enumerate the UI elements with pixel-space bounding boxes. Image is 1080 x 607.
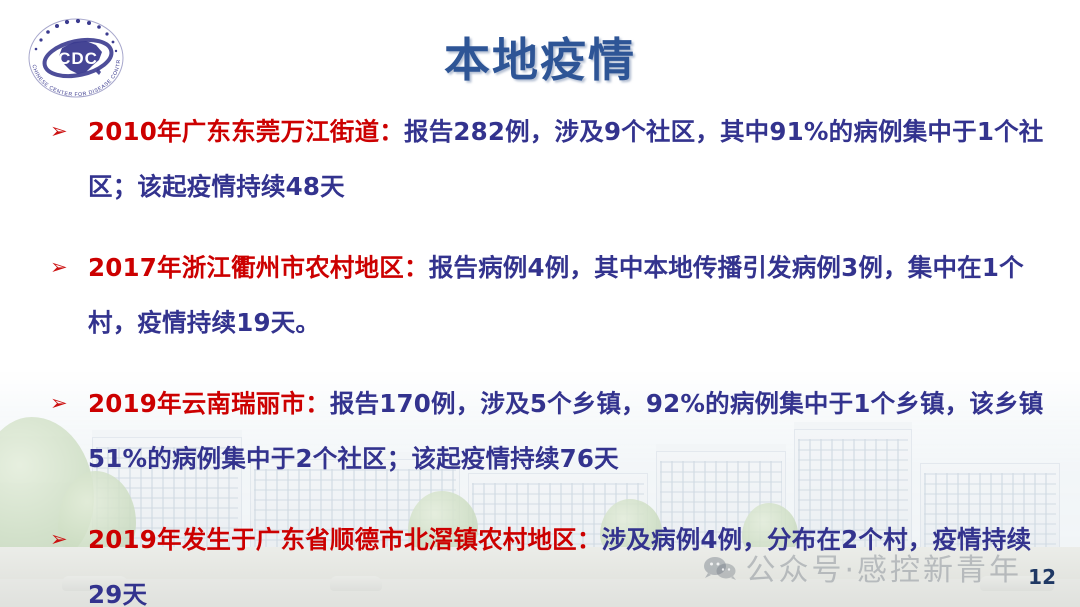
list-item-lead: 2017年浙江衢州市农村地区：: [88, 253, 429, 282]
bullet-list: ➢2010年广东东莞万江街道：报告282例，涉及9个社区，其中91%的病例集中于…: [46, 104, 1046, 607]
list-item: ➢2019年发生于广东省顺德市北滘镇农村地区：涉及病例4例，分布在2个村，疫情持…: [46, 512, 1046, 607]
slide: CDC CHINESE CENTER FOR DISEASE CONTROL A…: [0, 0, 1080, 607]
page-number: 12: [1028, 565, 1056, 589]
list-item: ➢2019年云南瑞丽市：报告170例，涉及5个乡镇，92%的病例集中于1个乡镇，…: [46, 376, 1046, 486]
list-item-lead: 2019年发生于广东省顺德市北滘镇农村地区：: [88, 525, 602, 554]
page-title: 本地疫情: [0, 24, 1080, 90]
list-item: ➢2010年广东东莞万江街道：报告282例，涉及9个社区，其中91%的病例集中于…: [46, 104, 1046, 214]
list-item-lead: 2010年广东东莞万江街道：: [88, 117, 404, 146]
list-item-lead: 2019年云南瑞丽市：: [88, 389, 330, 418]
arrow-bullet-icon: ➢: [50, 376, 68, 431]
arrow-bullet-icon: ➢: [50, 240, 68, 295]
list-item: ➢2017年浙江衢州市农村地区：报告病例4例，其中本地传播引发病例3例，集中在1…: [46, 240, 1046, 350]
arrow-bullet-icon: ➢: [50, 104, 68, 159]
arrow-bullet-icon: ➢: [50, 512, 68, 567]
